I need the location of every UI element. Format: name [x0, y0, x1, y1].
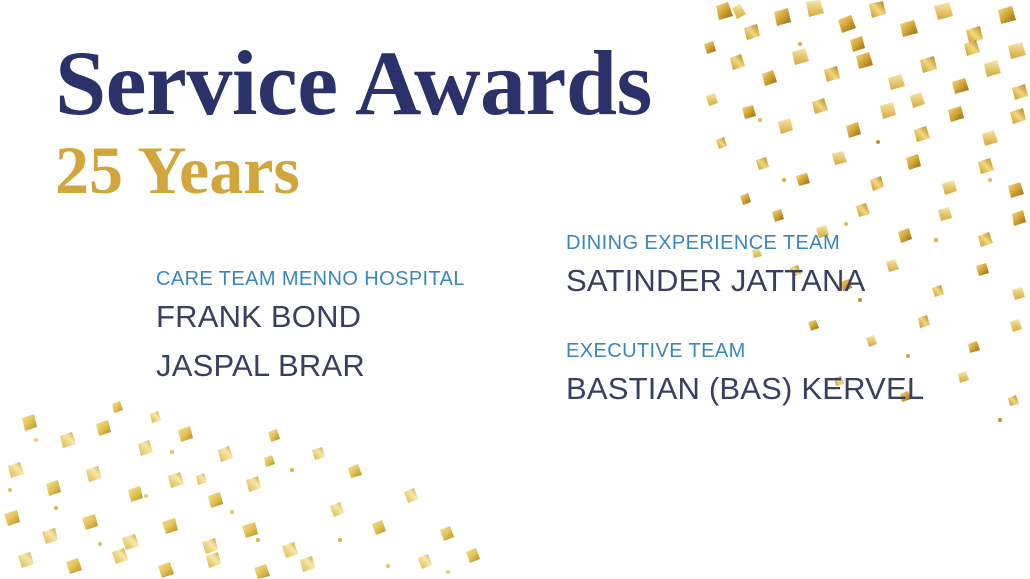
award-group-executive-team: EXECUTIVE TEAM BASTIAN (BAS) KERVEL [566, 340, 924, 410]
recipient-name: JASPAL BRAR [156, 346, 465, 387]
recipient-name: FRANK BOND [156, 297, 465, 338]
title-block: Service Awards 25 Years [55, 38, 652, 204]
award-column-right: DINING EXPERIENCE TEAM SATINDER JATTANA … [566, 232, 924, 410]
group-heading: EXECUTIVE TEAM [566, 340, 924, 363]
award-group-dining-experience-team: DINING EXPERIENCE TEAM SATINDER JATTANA [566, 232, 924, 302]
group-heading: CARE TEAM MENNO HOSPITAL [156, 268, 465, 291]
service-awards-slide: Service Awards 25 Years CARE TEAM MENNO … [0, 0, 1030, 579]
award-group-care-team-menno-hospital: CARE TEAM MENNO HOSPITAL FRANK BOND JASP… [156, 268, 465, 387]
recipient-name: SATINDER JATTANA [566, 261, 924, 302]
group-heading: DINING EXPERIENCE TEAM [566, 232, 924, 255]
award-column-left: CARE TEAM MENNO HOSPITAL FRANK BOND JASP… [156, 268, 465, 387]
page-title: Service Awards [55, 38, 652, 128]
recipient-name: BASTIAN (BAS) KERVEL [566, 369, 924, 410]
page-subtitle: 25 Years [55, 136, 652, 204]
